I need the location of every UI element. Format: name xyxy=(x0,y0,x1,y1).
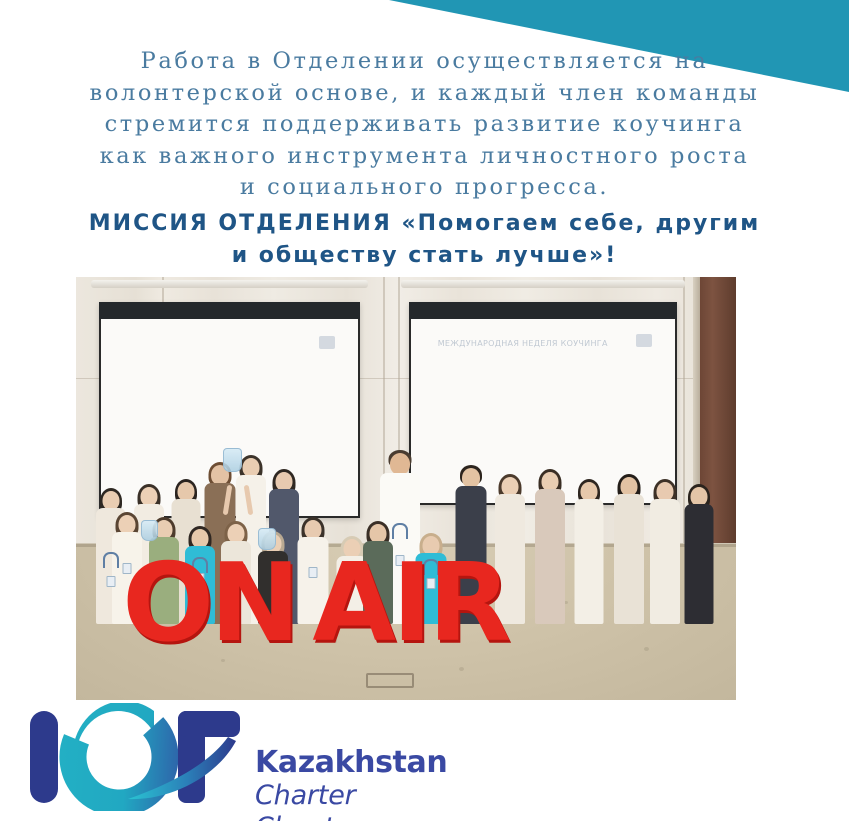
on-air-letter-r: R xyxy=(428,565,507,643)
body-line-2: волонтерской основе, и каждый член коман… xyxy=(8,78,841,110)
trophy-raised-center xyxy=(223,448,242,472)
body-line-1: Работа в Отделении осуществляется на xyxy=(8,46,841,78)
logo-chapter-label: Charter Chapter xyxy=(255,780,452,821)
on-air-letter-a: A xyxy=(312,565,392,643)
icf-logo: Kazakhstan Charter Chapter xyxy=(22,703,452,815)
person xyxy=(535,472,565,624)
mission-line-1: МИССИЯ ОТДЕЛЕНИЯ «Помогаем себе, другим xyxy=(8,208,841,240)
group-photo: МЕЖДУНАРОДНАЯ НЕДЕЛЯ КОУЧИНГА O N A I R xyxy=(76,277,736,700)
trophy-raised-left xyxy=(141,520,158,541)
text-block: Работа в Отделении осуществляется на вол… xyxy=(0,46,849,272)
on-air-prop: O N A I R xyxy=(122,557,507,643)
slide-canvas: Работа в Отделении осуществляется на вол… xyxy=(0,0,849,821)
person xyxy=(650,482,680,624)
icf-logo-wordmark: Kazakhstan Charter Chapter xyxy=(255,746,452,821)
person xyxy=(614,477,644,624)
body-line-4: как важного инструмента личностного рост… xyxy=(8,141,841,173)
body-line-5: и социального прогресса. xyxy=(8,172,841,204)
body-line-3: стремится поддерживать развитие коучинга xyxy=(8,109,841,141)
floor-vent xyxy=(366,673,414,688)
on-air-letter-o: O xyxy=(122,565,210,643)
person xyxy=(574,482,603,624)
on-air-letter-i: I xyxy=(392,565,428,643)
screen-right-caption: МЕЖДУНАРОДНАЯ НЕДЕЛЯ КОУЧИНГА xyxy=(438,338,608,349)
icf-logo-mark xyxy=(22,703,247,811)
person xyxy=(685,487,714,624)
logo-country-label: Kazakhstan xyxy=(255,746,452,780)
mission-line-2: и обществу стать лучше»! xyxy=(8,240,841,272)
on-air-letter-n: N xyxy=(210,565,296,643)
